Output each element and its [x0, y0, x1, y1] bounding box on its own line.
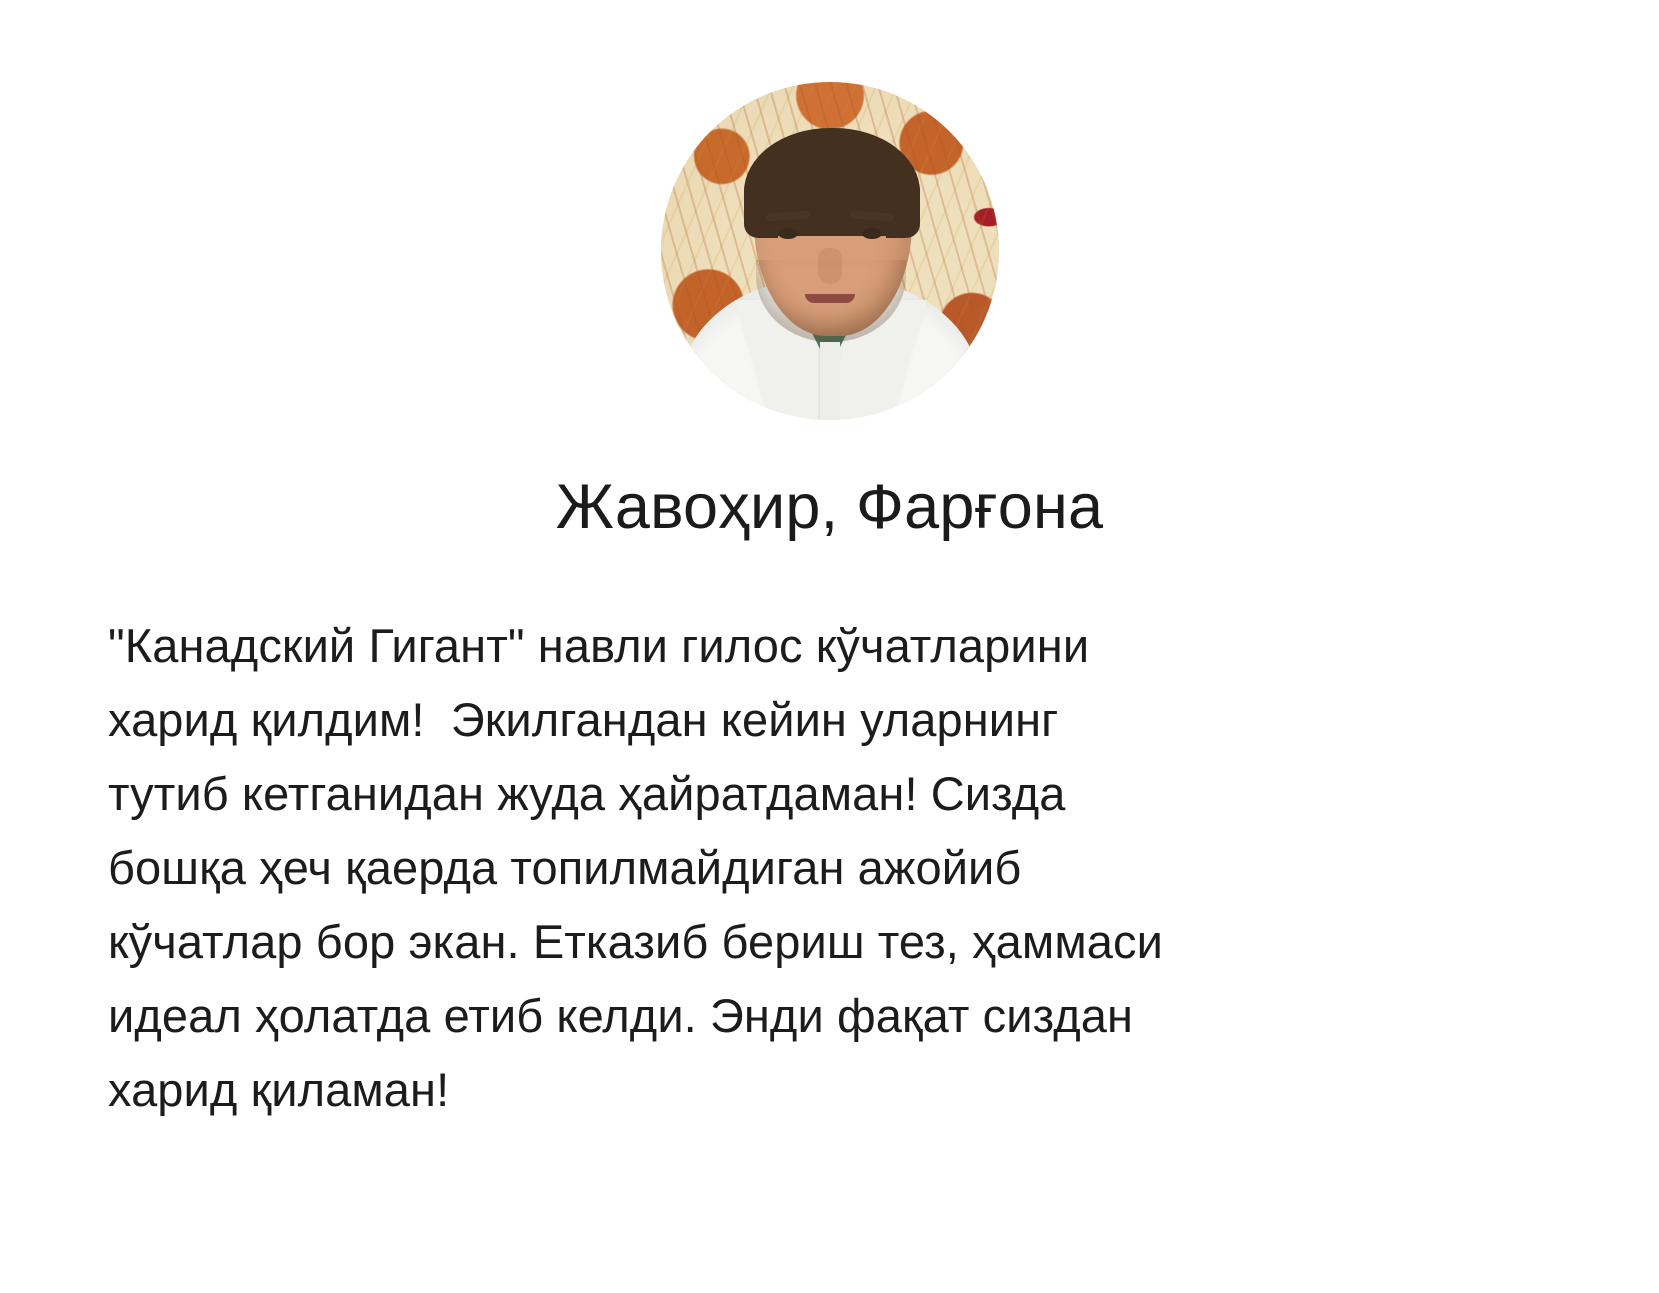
review-line: бошқа ҳеч қаерда топилмайдиган ажойиб	[108, 831, 1568, 905]
review-line: идеал ҳолатда етиб келди. Энди фақат сиз…	[108, 979, 1568, 1053]
author-name: Жавоҳир, Фарғона	[556, 472, 1103, 543]
review-line: кўчатлар бор экан. Етказиб бериш тез, ҳа…	[108, 905, 1568, 979]
review-line: тутиб кетганидан жуда ҳайратдаман! Сизда	[108, 757, 1568, 831]
testimonial-card: Жавоҳир, Фарғона "Канадский Гигант" навл…	[0, 0, 1659, 1293]
author-heading: Жавоҳир, Фарғона	[0, 472, 1659, 543]
avatar-container	[0, 82, 1659, 420]
avatar-vignette	[661, 82, 999, 420]
review-line: харид қиламан!	[108, 1053, 1568, 1127]
avatar	[661, 82, 999, 420]
review-line: харид қилдим! Экилгандан кейин уларнинг	[108, 683, 1568, 757]
review-text: "Канадский Гигант" навли гилос кўчатлари…	[108, 609, 1568, 1127]
review-line: "Канадский Гигант" навли гилос кўчатлари…	[108, 609, 1568, 683]
